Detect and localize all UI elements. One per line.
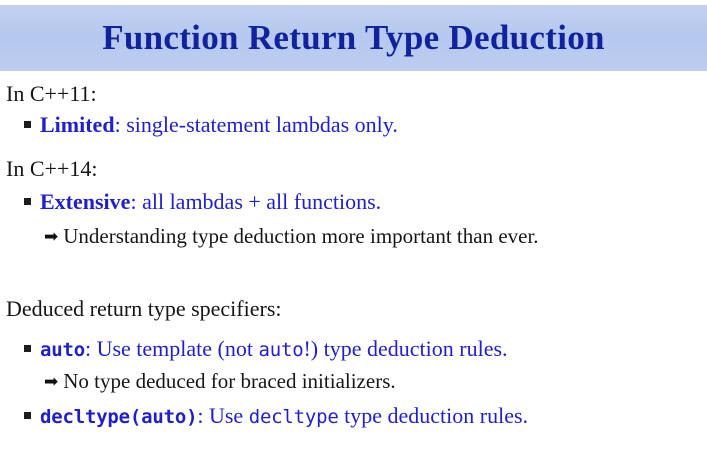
slide-body: In C++11: Limited: single-statement lamb… [0, 71, 707, 460]
heading-cpp14: In C++14: [6, 156, 97, 181]
slide: Function Return Type Deduction In C++11:… [0, 0, 707, 460]
square-bullet-icon [24, 345, 31, 352]
sub-list-item: ➡ Understanding type deduction more impo… [44, 224, 539, 250]
bullet-rest: all lambdas + all functions. [137, 189, 382, 214]
sub-list-item: ➡ No type deduced for braced initializer… [44, 369, 396, 395]
list-item: decltype(auto): Use decltype type deduct… [24, 403, 528, 430]
arrow-bullet-icon: ➡ [44, 225, 58, 249]
heading-specifiers: Deduced return type specifiers: [6, 296, 282, 321]
bullet-text: Limited: single-statement lambdas only. [40, 112, 398, 137]
title-banner: Function Return Type Deduction [0, 5, 707, 71]
sub-bullet-text: No type deduced for braced initializers. [63, 369, 395, 393]
list-item: auto: Use template (not auto!) type dedu… [24, 336, 508, 363]
bullet-term: Limited [40, 112, 115, 137]
list-item: Extensive: all lambdas + all functions. [24, 189, 381, 214]
bullet-rest: single-statement lambdas only. [121, 112, 398, 137]
bullet-code-inline: auto [259, 339, 304, 361]
bullet-text: Extensive: all lambdas + all functions. [40, 189, 381, 214]
heading-cpp11: In C++11: [6, 81, 97, 106]
bullet-term: Extensive [40, 189, 130, 214]
bullet-text: decltype(auto): Use decltype type deduct… [40, 403, 528, 430]
square-bullet-icon [24, 121, 31, 128]
bullet-text: auto: Use template (not auto!) type dedu… [40, 336, 508, 363]
bullet-rest-a: Use [203, 403, 248, 428]
square-bullet-icon [24, 198, 31, 205]
bullet-rest-b: !) type deduction rules. [303, 336, 507, 361]
bullet-rest-b: type deduction rules. [339, 403, 528, 428]
bullet-code-term: auto [40, 339, 85, 361]
page-title: Function Return Type Deduction [102, 19, 605, 57]
square-bullet-icon [24, 412, 31, 419]
bullet-code-inline: decltype [249, 406, 339, 428]
sub-bullet-text: Understanding type deduction more import… [63, 224, 538, 248]
list-item: Limited: single-statement lambdas only. [24, 112, 398, 137]
arrow-bullet-icon: ➡ [44, 370, 58, 394]
bullet-code-term: decltype(auto) [40, 406, 197, 428]
bullet-rest-a: Use template (not [91, 336, 258, 361]
